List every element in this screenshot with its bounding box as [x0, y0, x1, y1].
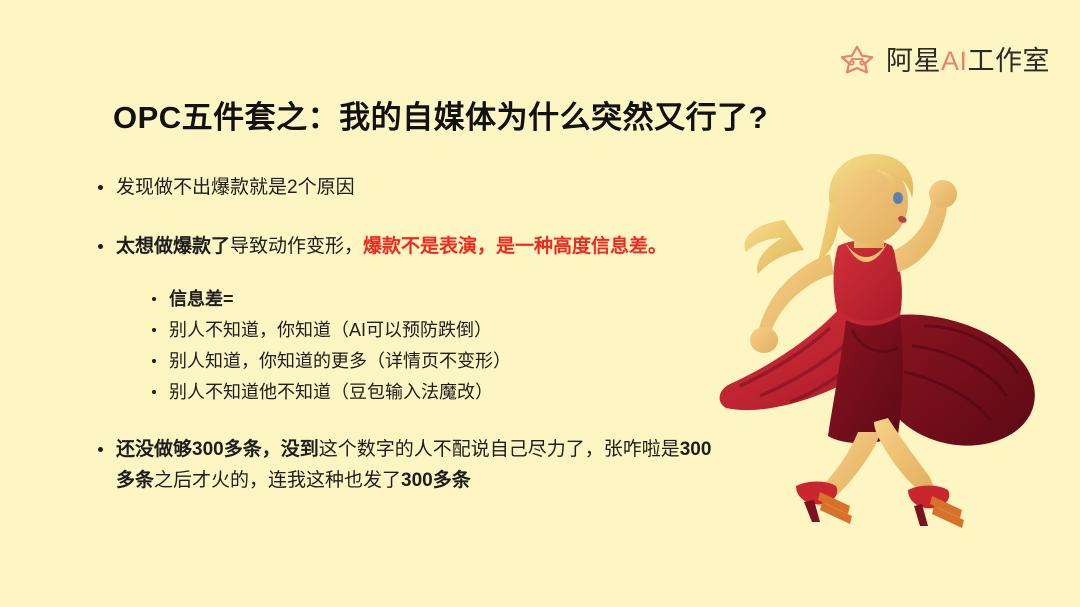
dancer-emoji: [712, 150, 1072, 540]
bullet-3-line2-normal-a: 张咋啦是: [604, 439, 680, 460]
brand-name-accent: AI: [941, 46, 968, 76]
bullet-item-1: 发现做不出爆款就是2个原因: [90, 172, 730, 203]
sub-bullet-item-3: 别人知道，你知道的更多（详情页不变形）: [143, 346, 730, 377]
sub-bullet-2-text: 别人不知道，你知道（AI可以预防跌倒）: [169, 320, 492, 340]
sub-bullet-3-text: 别人知道，你知道的更多（详情页不变形）: [169, 351, 511, 371]
bullet-3-bold-a: 还没做够300多条，没到: [116, 439, 319, 460]
brand-name-part2: 工作室: [968, 46, 1051, 76]
brand-logo: 阿星AI工作室: [838, 44, 1050, 78]
bullet-3-line2-normal-b: 之后才火的，连我这种也发了: [154, 470, 401, 491]
brand-name: 阿星AI工作室: [886, 48, 1050, 75]
bullet-3-normal-a: 这个数字的人不配说自己尽力了，: [319, 439, 604, 460]
sub-bullet-1-text: 信息差=: [169, 289, 234, 309]
sub-bullet-item-4: 别人不知道他不知道（豆包输入法魔改）: [143, 377, 730, 408]
sub-bullet-item-1: 信息差=: [143, 284, 730, 315]
bullet-2-bold-lead: 太想做爆款了: [116, 236, 230, 257]
slide-body: 发现做不出爆款就是2个原因 太想做爆款了导致动作变形，爆款不是表演，是一种高度信…: [90, 172, 730, 524]
sub-bullet-4-text: 别人不知道他不知道（豆包输入法魔改）: [169, 382, 493, 402]
bullet-1-text: 发现做不出爆款就是2个原因: [116, 177, 355, 198]
bullet-item-3: 还没做够300多条，没到这个数字的人不配说自己尽力了，张咋啦是300多条之后才火…: [90, 434, 730, 496]
sub-bullet-item-2: 别人不知道，你知道（AI可以预防跌倒）: [143, 315, 730, 346]
bullet-item-2: 太想做爆款了导致动作变形，爆款不是表演，是一种高度信息差。: [90, 231, 730, 262]
bullet-3-line2-bold-b: 300多条: [401, 470, 471, 491]
sub-bullet-list: 信息差= 别人不知道，你知道（AI可以预防跌倒） 别人知道，你知道的更多（详情页…: [90, 284, 730, 408]
bullet-2-red-tail: 爆款不是表演，是一种高度信息差。: [363, 236, 667, 257]
page-title: OPC五件套之：我的自媒体为什么突然又行了?: [113, 92, 768, 137]
star-animal-logo-icon: [838, 44, 876, 78]
bullet-2-normal-mid: 导致动作变形，: [230, 236, 363, 257]
brand-name-part1: 阿星: [886, 46, 941, 76]
